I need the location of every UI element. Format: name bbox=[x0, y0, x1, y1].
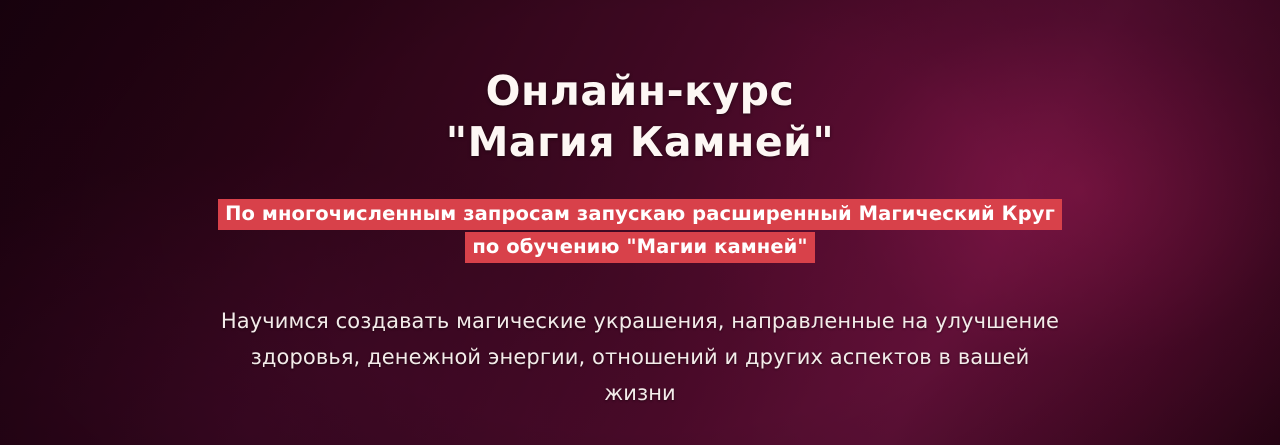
highlight-line-2: по обучению "Магии камней" bbox=[465, 232, 814, 263]
hero-description: Научимся создавать магические украшения,… bbox=[220, 265, 1060, 411]
highlight-line-1: По многочисленным запросам запускаю расш… bbox=[218, 199, 1062, 230]
highlight-callout: По многочисленным запросам запускаю расш… bbox=[0, 199, 1280, 263]
page-title: Онлайн-курс "Магия Камней" bbox=[0, 0, 1280, 169]
page-title-line-2: "Магия Камней" bbox=[0, 117, 1280, 168]
hero-banner: Онлайн-курс "Магия Камней" По многочисле… bbox=[0, 0, 1280, 445]
highlight-row-2: по обучению "Магии камней" bbox=[0, 232, 1280, 263]
highlight-row-1: По многочисленным запросам запускаю расш… bbox=[0, 199, 1280, 230]
page-title-line-1: Онлайн-курс bbox=[486, 67, 795, 115]
hero-content: Онлайн-курс "Магия Камней" По многочисле… bbox=[0, 0, 1280, 411]
